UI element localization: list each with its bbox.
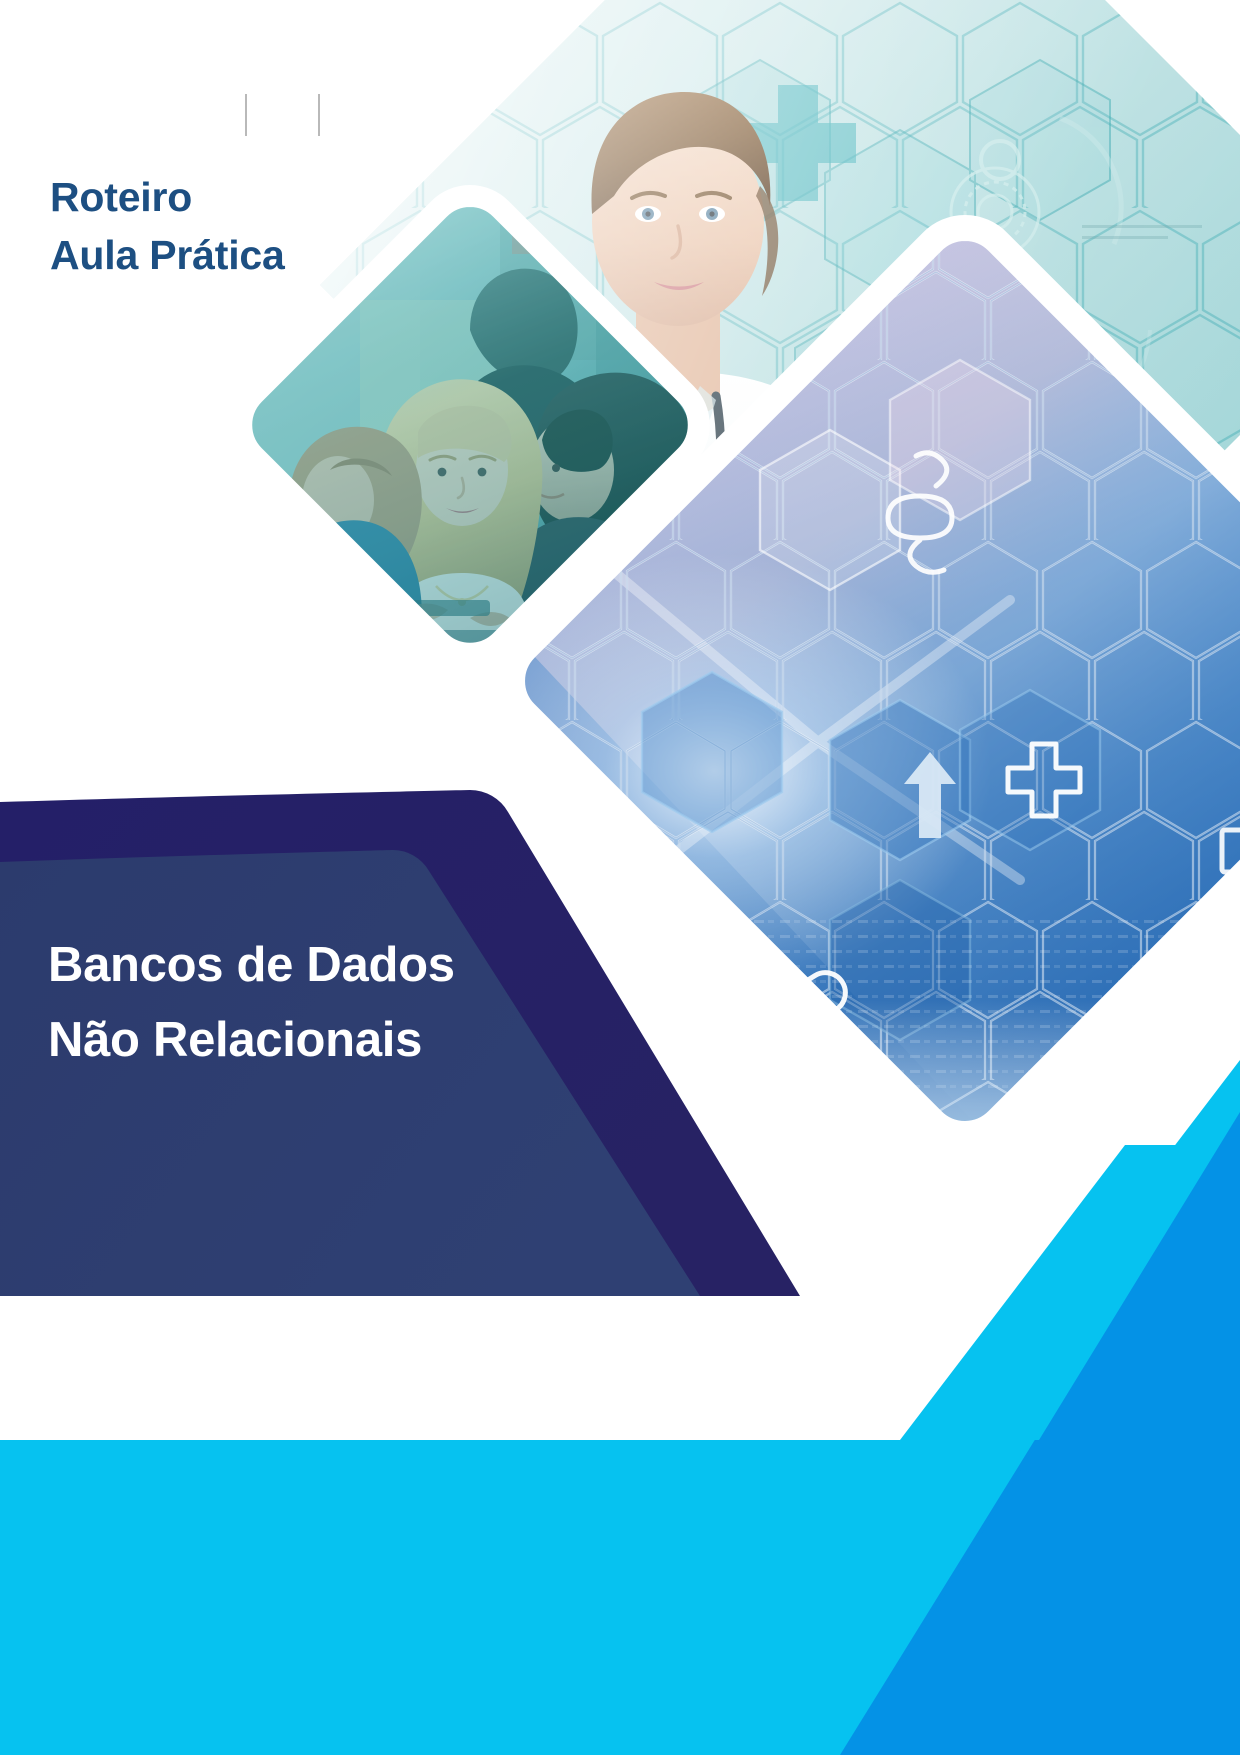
- kicker-line-2: Aula Prática: [50, 226, 285, 284]
- title-line-1: Bancos de Dados: [48, 928, 455, 1003]
- vertical-rule-left: [245, 94, 247, 136]
- kicker-line-1: Roteiro: [50, 168, 285, 226]
- vertical-rule-right: [318, 94, 320, 136]
- document-cover-page: Roteiro Aula Prática Bancos de Dados Não…: [0, 0, 1240, 1755]
- cover-title: Bancos de Dados Não Relacionais: [48, 928, 455, 1079]
- title-line-2: Não Relacionais: [48, 1003, 455, 1078]
- cover-kicker: Roteiro Aula Prática: [50, 168, 285, 284]
